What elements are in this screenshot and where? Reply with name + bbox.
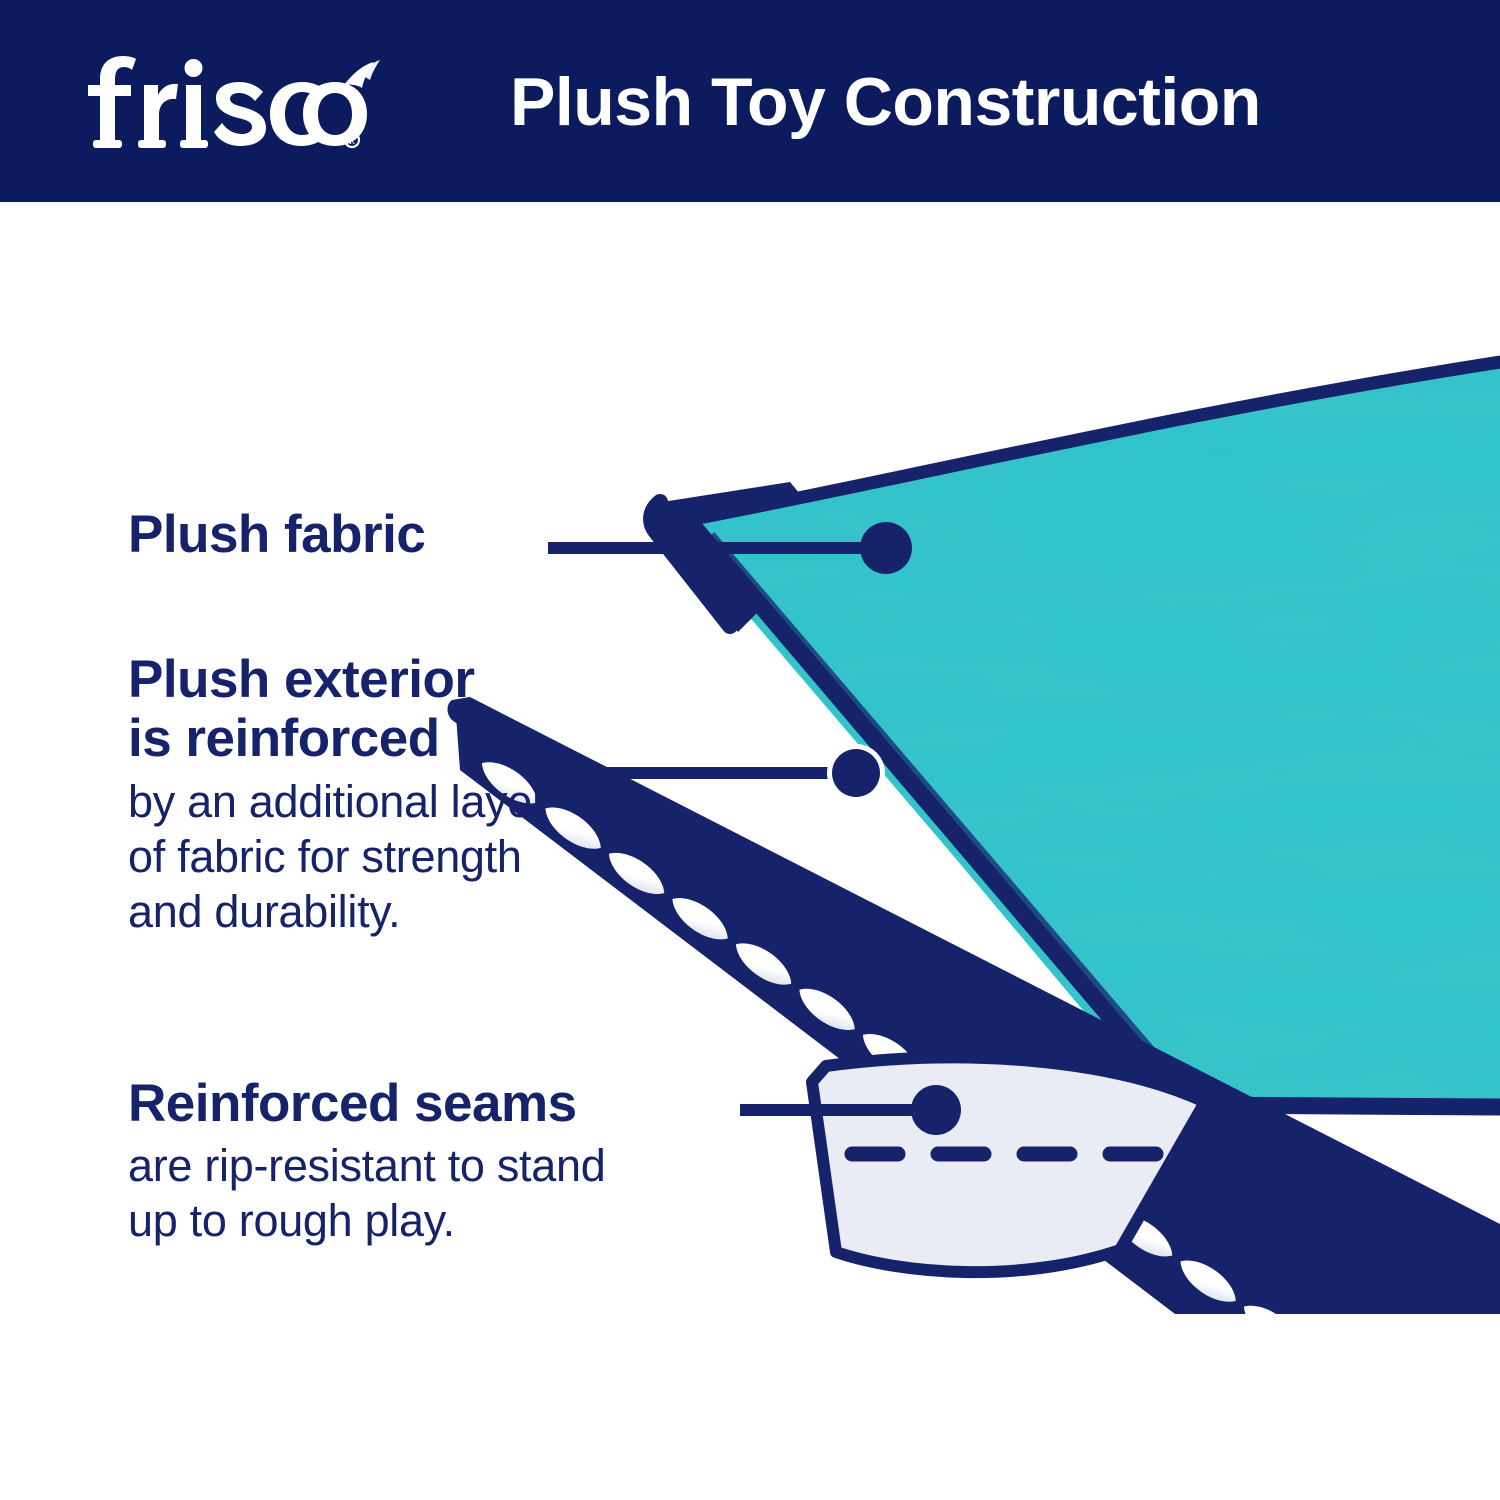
callout-heading-reinforced-seams: Reinforced seams — [128, 1074, 605, 1133]
header-bar: R Plush Toy Construction — [0, 0, 1500, 202]
callout-heading-plush-exterior: Plush exterior is reinforced — [128, 650, 547, 769]
plush-exterior-marker — [832, 749, 880, 797]
reinforced-seams-marker — [911, 1085, 961, 1135]
callout-body-plush-exterior: by an additional layer of fabric for str… — [128, 775, 547, 940]
callout-plush-fabric: Plush fabric — [128, 505, 425, 564]
callout-reinforced-seams: Reinforced seams are rip-resistant to st… — [128, 1074, 605, 1249]
plush-fabric-marker — [860, 522, 912, 574]
svg-text:R: R — [349, 136, 355, 146]
callout-body-reinforced-seams: are rip-resistant to stand up to rough p… — [128, 1139, 605, 1249]
infographic-page: R Plush Toy Construction — [0, 0, 1500, 1500]
callout-plush-exterior: Plush exterior is reinforced by an addit… — [128, 650, 547, 939]
callout-heading-plush-fabric: Plush fabric — [128, 505, 425, 564]
page-title: Plush Toy Construction — [510, 50, 1390, 154]
frisco-logo: R — [82, 52, 382, 156]
